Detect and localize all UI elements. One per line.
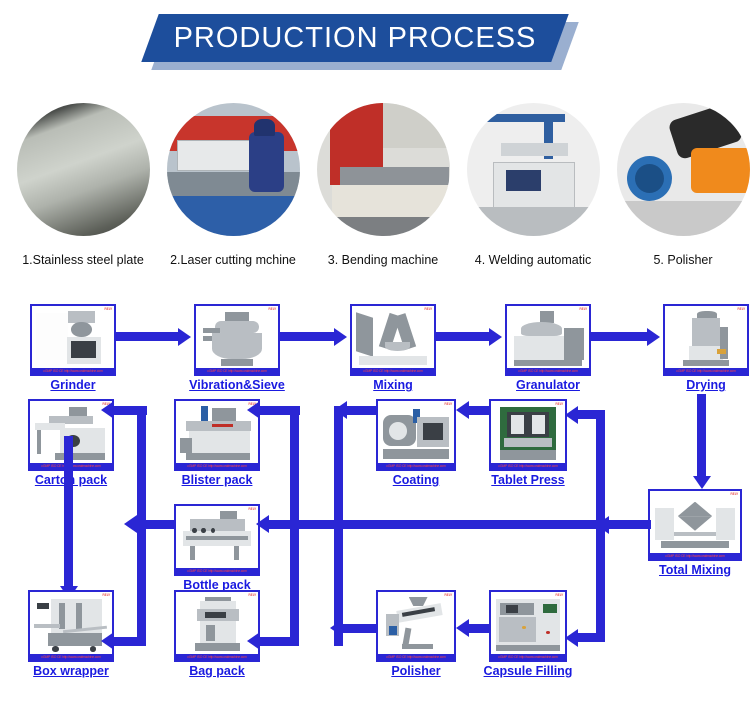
flow-node-bottle-pack[interactable]: RELY cGMP ISO CE http://www.oralmachine.… [174, 504, 260, 576]
capsule-filling-machine-art [493, 597, 563, 653]
box-footer-text: cGMP ISO CE http://www.oralmachine.com [196, 368, 278, 374]
brand-tag: RELY [444, 593, 452, 597]
flow-label-bag-pack: Bag pack [154, 664, 280, 678]
brand-tag: RELY [104, 307, 112, 311]
brand-tag: RELY [102, 593, 110, 597]
arrow-drying-to-total-mixing-head [693, 476, 711, 489]
stainless-steel-plate-photo [17, 103, 150, 236]
arrow-to-carton-pack-line [114, 406, 140, 415]
box-footer-text: cGMP ISO CE http://www.oralmachine.com [491, 463, 565, 469]
coating-machine-art [380, 406, 452, 462]
page-title: PRODUCTION PROCESS [150, 14, 560, 62]
total-mixing-outflow-line [609, 520, 651, 529]
arrow-grinder-to-vibration-head [178, 328, 191, 346]
flow-node-granulator[interactable]: RELY cGMP ISO CE http://www.oralmachine.… [505, 304, 591, 376]
arrow-granulator-to-drying-head [647, 328, 660, 346]
box-footer-text: cGMP ISO CE http://www.oralmachine.com [665, 368, 747, 374]
polisher-outflow-head [330, 619, 343, 637]
brand-tag: RELY [424, 307, 432, 311]
flow-node-coating[interactable]: RELY cGMP ISO CE http://www.oralmachine.… [376, 399, 456, 471]
arrow-to-tablet-press-line [578, 410, 605, 419]
arrow-to-box-wrapper-line [114, 637, 146, 646]
fabrication-step-3: 3. Bending machine [308, 103, 458, 278]
arrow-vibration-to-mixing-head [334, 328, 347, 346]
flow-node-polisher[interactable]: RELY cGMP ISO CE http://www.oralmachine.… [376, 590, 456, 662]
flow-label-mixing: Mixing [330, 378, 456, 392]
production-flow-diagram: RELY cGMP ISO CE http://www.oralmachine.… [0, 286, 750, 706]
arrow-to-carton-pack-head [101, 401, 114, 419]
fabrication-step-2: 2.Laser cutting mchine [158, 103, 308, 278]
tablet-press-machine-art [493, 406, 563, 462]
arrow-mixing-to-granulator-line [436, 332, 489, 341]
arrow-grinder-to-vibration-line [116, 332, 178, 341]
flow-label-capsule-filling: Capsule Filling [465, 664, 591, 678]
box-footer-text: cGMP ISO CE http://www.oralmachine.com [176, 568, 258, 574]
blister-pack-machine-art [178, 406, 256, 462]
laser-cutting-machine-photo [167, 103, 300, 236]
bag-pack-machine-art [178, 597, 256, 653]
fabrication-step-4: 4. Welding automatic [458, 103, 608, 278]
right-trunk-vertical-upper [596, 410, 605, 525]
polisher-machine-art [380, 597, 452, 653]
fabrication-step-2-caption: 2.Laser cutting mchine [146, 253, 320, 267]
fabrication-step-5: 5. Polisher [608, 103, 750, 278]
flow-label-coating: Coating [353, 473, 479, 487]
row3-feed-head-left [124, 515, 137, 533]
fabrication-step-1: 1.Stainless steel plate [8, 103, 158, 278]
welding-automatic-photo [467, 103, 600, 236]
fabrication-steps-row: 1.Stainless steel plate 2.Laser cutting … [0, 103, 750, 278]
brand-tag: RELY [248, 507, 256, 511]
flow-label-polisher: Polisher [353, 664, 479, 678]
flow-node-capsule-filling[interactable]: RELY cGMP ISO CE http://www.oralmachine.… [489, 590, 567, 662]
flow-node-grinder[interactable]: RELY cGMP ISO CE http://www.oralmachine.… [30, 304, 116, 376]
polisher-photo [617, 103, 750, 236]
box-footer-text: cGMP ISO CE http://www.oralmachine.com [507, 368, 589, 374]
arrow-drying-to-total-mixing-line [697, 394, 706, 476]
row3-feed-head-right [256, 515, 269, 533]
flow-label-blister-pack: Blister pack [154, 473, 280, 487]
flow-label-grinder: Grinder [10, 378, 136, 392]
flow-node-total-mixing[interactable]: RELY cGMP ISO CE http://www.oralmachine.… [648, 489, 742, 561]
page-title-banner: PRODUCTION PROCESS [150, 14, 570, 72]
box-footer-text: cGMP ISO CE http://www.oralmachine.com [352, 368, 434, 374]
granulator-machine-art [509, 311, 587, 367]
flow-node-box-wrapper[interactable]: RELY cGMP ISO CE http://www.oralmachine.… [28, 590, 114, 662]
row3-feed-line-left [137, 520, 174, 529]
arrow-capsule-to-polisher-line [469, 624, 491, 633]
arrow-vibration-to-mixing-line [280, 332, 334, 341]
right-trunk-vertical-lower [596, 520, 605, 642]
box-footer-text: cGMP ISO CE http://www.oralmachine.com [176, 463, 258, 469]
box-footer-text: cGMP ISO CE http://www.oralmachine.com [378, 463, 454, 469]
flow-label-total-mixing: Total Mixing [632, 563, 750, 577]
arrow-to-blister-pack-line [260, 406, 290, 415]
box-footer-text: cGMP ISO CE http://www.oralmachine.com [176, 654, 258, 660]
box-footer-text: cGMP ISO CE http://www.oralmachine.com [378, 654, 454, 660]
flow-label-drying: Drying [643, 378, 750, 392]
total-mixing-machine-art [652, 496, 738, 552]
box-footer-text: cGMP ISO CE http://www.oralmachine.com [30, 654, 112, 660]
fabrication-step-3-caption: 3. Bending machine [296, 253, 470, 267]
fabrication-step-5-caption: 5. Polisher [596, 253, 750, 267]
flow-node-vibration-sieve[interactable]: RELY cGMP ISO CE http://www.oralmachine.… [194, 304, 280, 376]
brand-tag: RELY [555, 593, 563, 597]
box-footer-text: cGMP ISO CE http://www.oralmachine.com [650, 553, 740, 559]
brand-tag: RELY [268, 307, 276, 311]
brand-tag: RELY [555, 402, 563, 406]
brand-tag: RELY [737, 307, 745, 311]
flow-node-mixing[interactable]: RELY cGMP ISO CE http://www.oralmachine.… [350, 304, 436, 376]
arrow-to-blister-pack-head [247, 401, 260, 419]
row3-feed-line-right [269, 520, 605, 529]
second-trunk-top-stub [290, 406, 300, 415]
flow-node-bag-pack[interactable]: RELY cGMP ISO CE http://www.oralmachine.… [174, 590, 260, 662]
brand-tag: RELY [730, 492, 738, 496]
carton-to-box-wrapper-line [64, 436, 73, 588]
grinder-machine-art [34, 311, 112, 367]
flow-label-vibration-sieve: Vibration&Sieve [174, 378, 300, 392]
box-footer-text: cGMP ISO CE http://www.oralmachine.com [32, 368, 114, 374]
bending-machine-photo [317, 103, 450, 236]
fabrication-step-1-caption: 1.Stainless steel plate [0, 253, 170, 267]
arrow-capsule-to-polisher-head [456, 619, 469, 637]
brand-tag: RELY [579, 307, 587, 311]
coating-outflow-line [347, 406, 376, 415]
arrow-to-capsule-filling-line [578, 633, 605, 642]
brand-tag: RELY [444, 402, 452, 406]
bottle-pack-machine-art [178, 511, 256, 567]
flow-label-tablet-press: Tablet Press [465, 473, 591, 487]
arrow-tablet-press-to-coating-head [456, 401, 469, 419]
arrow-to-box-wrapper-head [101, 632, 114, 650]
fabrication-step-4-caption: 4. Welding automatic [446, 253, 620, 267]
mixing-machine-art [354, 311, 432, 367]
flow-label-granulator: Granulator [485, 378, 611, 392]
flow-label-box-wrapper: Box wrapper [8, 664, 134, 678]
box-footer-text: cGMP ISO CE http://www.oralmachine.com [491, 654, 565, 660]
drying-machine-art [667, 311, 745, 367]
arrow-to-bag-pack-line [260, 637, 299, 646]
box-wrapper-machine-art [32, 597, 110, 653]
arrow-mixing-to-granulator-head [489, 328, 502, 346]
flow-node-tablet-press[interactable]: RELY cGMP ISO CE http://www.oralmachine.… [489, 399, 567, 471]
arrow-granulator-to-drying-line [591, 332, 647, 341]
flow-node-drying[interactable]: RELY cGMP ISO CE http://www.oralmachine.… [663, 304, 749, 376]
brand-tag: RELY [248, 593, 256, 597]
vibration-sieve-machine-art [198, 311, 276, 367]
polisher-outflow-line [343, 624, 376, 633]
arrow-tablet-press-to-coating-line [469, 406, 491, 415]
arrow-to-bag-pack-head [247, 632, 260, 650]
